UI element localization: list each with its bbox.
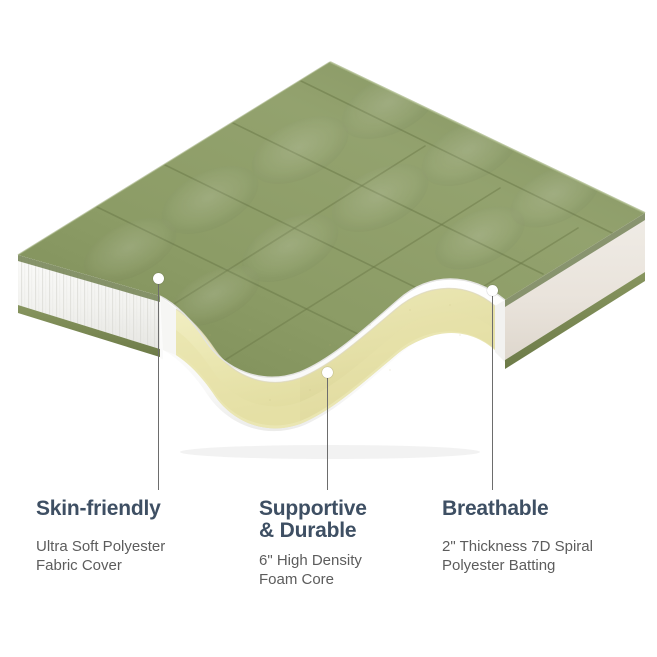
infographic-canvas: Skin-friendly Ultra Soft Polyester Fabri…	[0, 0, 657, 657]
feature-column-breathable: Breathable 2" Thickness 7D Spiral Polyes…	[442, 498, 647, 576]
feature-column-skin-friendly: Skin-friendly Ultra Soft Polyester Fabri…	[36, 498, 236, 576]
callout-dot-skin-friendly[interactable]	[153, 273, 164, 284]
feature-caption-row: Skin-friendly Ultra Soft Polyester Fabri…	[0, 498, 657, 618]
feature-title-breathable: Breathable	[442, 498, 647, 520]
feature-title-skin-friendly: Skin-friendly	[36, 498, 236, 520]
feature-body-skin-friendly: Ultra Soft Polyester Fabric Cover	[36, 537, 236, 576]
feature-body-breathable: 2" Thickness 7D Spiral Polyester Batting	[442, 537, 647, 576]
leader-line-supportive-durable	[327, 377, 328, 490]
callout-dot-breathable[interactable]	[487, 285, 498, 296]
feature-column-supportive-durable: Supportive & Durable 6" High Density Foa…	[259, 498, 444, 590]
mattress-illustration	[0, 0, 657, 470]
feature-title-supportive-durable: Supportive & Durable	[259, 498, 444, 542]
leader-line-skin-friendly	[158, 283, 159, 490]
callout-dot-supportive-durable[interactable]	[322, 367, 333, 378]
feature-body-supportive-durable: 6" High Density Foam Core	[259, 551, 444, 590]
leader-line-breathable	[492, 295, 493, 490]
mattress-vector	[0, 0, 657, 470]
